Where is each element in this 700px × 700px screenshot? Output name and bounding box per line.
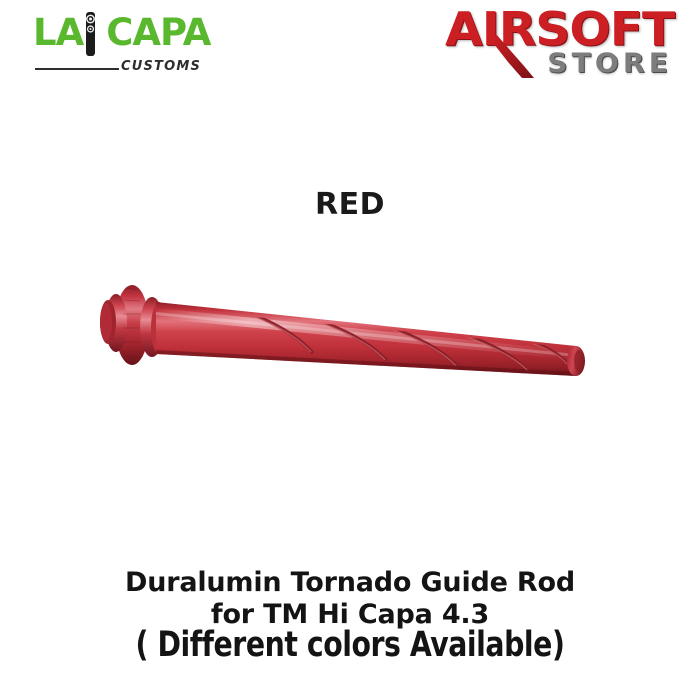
color-label: RED: [0, 188, 700, 222]
lacapa-divider-rule: [35, 68, 119, 70]
product-image-guide-rod: [60, 250, 640, 420]
lacapa-word-capa: CAPA: [106, 14, 210, 51]
pistol-icon: [83, 11, 98, 58]
airsoft-store-logo: AIRSOFT STORE: [382, 6, 674, 80]
lacapa-tagline: CUSTOMS: [121, 59, 201, 74]
guide-rod-tip: [567, 346, 585, 376]
guide-rod-shaft: [156, 302, 576, 376]
lacapa-word-la: LA: [33, 14, 83, 51]
lacapa-wordmark: LA CAPA: [33, 12, 210, 52]
product-caption: Duralumin Tornado Guide Rod for TM Hi Ca…: [0, 566, 700, 662]
caption-line-1: Duralumin Tornado Guide Rod: [0, 566, 700, 599]
caption-line-3: ( Different colors Available): [35, 628, 665, 662]
airsoft-store-subword: STORE: [547, 50, 672, 77]
airsoft-wordmark: AIRSOFT: [445, 6, 674, 52]
lacapa-customs-logo: LA CAPA CUSTOMS: [33, 12, 183, 76]
